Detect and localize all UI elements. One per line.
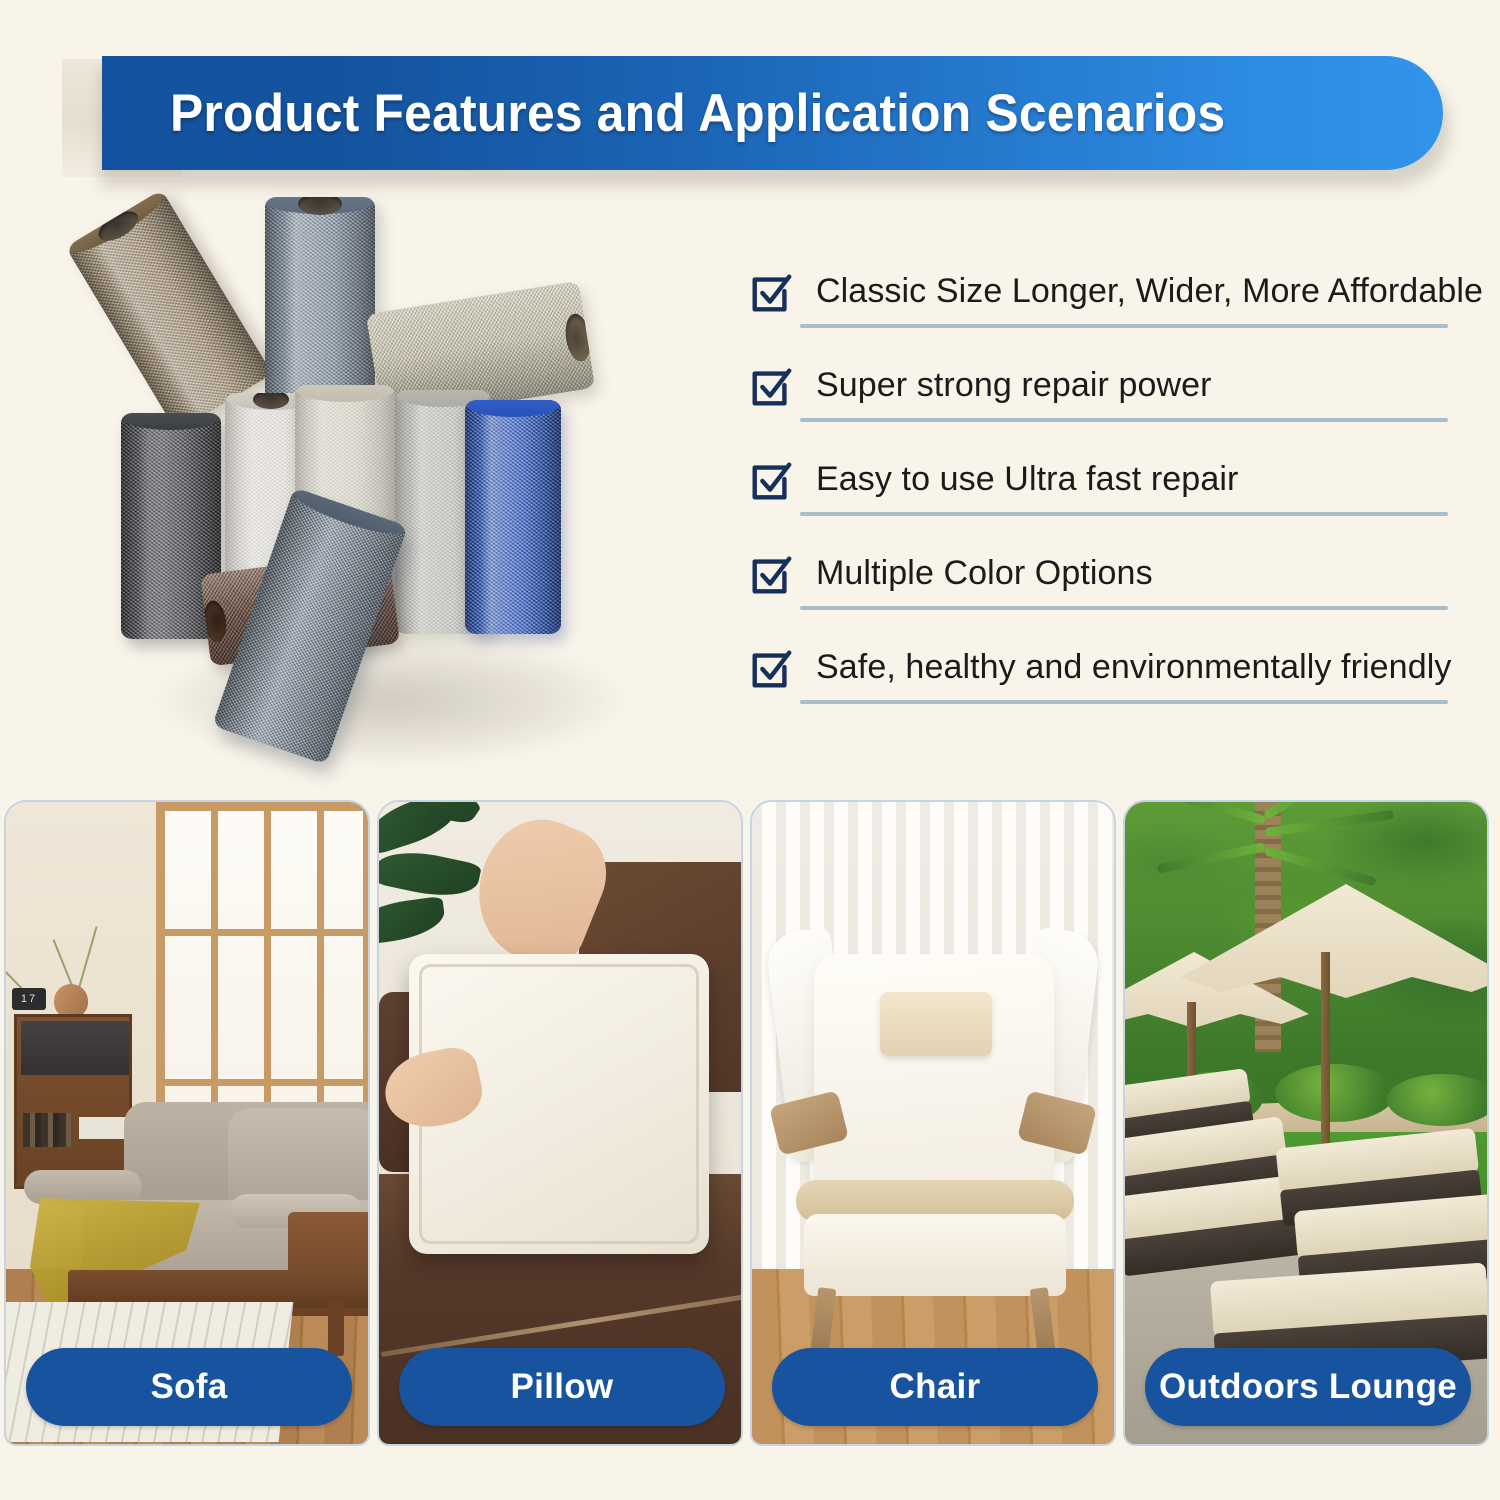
feature-label: Super strong repair power: [816, 356, 1212, 414]
checkbox-checked-icon: [748, 552, 794, 598]
scenario-label-chair[interactable]: Chair: [772, 1348, 1098, 1426]
scenario-label-text: Chair: [890, 1367, 981, 1407]
scenario-card-outdoors-lounge[interactable]: Outdoors Lounge: [1123, 800, 1489, 1446]
feature-divider: [800, 512, 1448, 516]
checkbox-checked-icon: [748, 364, 794, 410]
header-banner: Product Features and Application Scenari…: [0, 47, 1500, 177]
feature-divider: [800, 324, 1448, 328]
feature-label: Easy to use Ultra fast repair: [816, 450, 1238, 508]
checkbox-checked-icon: [748, 270, 794, 316]
scenario-label-text: Outdoors Lounge: [1159, 1367, 1457, 1407]
feature-divider: [800, 700, 1448, 704]
scenario-label-sofa[interactable]: Sofa: [26, 1348, 352, 1426]
product-image: [95, 185, 695, 770]
feature-label: Multiple Color Options: [816, 544, 1153, 602]
feature-item: Classic Size Longer, Wider, More Afforda…: [748, 262, 1448, 356]
feature-item: Multiple Color Options: [748, 544, 1448, 638]
checkbox-checked-icon: [748, 458, 794, 504]
scenario-label-outdoors-lounge[interactable]: Outdoors Lounge: [1145, 1348, 1471, 1426]
checkbox-checked-icon: [748, 646, 794, 692]
scenario-cards: 17 Sofa: [0, 800, 1500, 1500]
feature-label: Safe, healthy and environmentally friend…: [816, 638, 1451, 696]
scenario-card-pillow[interactable]: Pillow: [377, 800, 743, 1446]
feature-divider: [800, 418, 1448, 422]
feature-item: Easy to use Ultra fast repair: [748, 450, 1448, 544]
banner-bar: Product Features and Application Scenari…: [102, 56, 1443, 170]
scenario-label-text: Sofa: [150, 1367, 227, 1407]
feature-item: Super strong repair power: [748, 356, 1448, 450]
feature-label: Classic Size Longer, Wider, More Afforda…: [816, 262, 1483, 320]
scenario-card-chair[interactable]: Chair: [750, 800, 1116, 1446]
scenario-card-sofa[interactable]: 17 Sofa: [4, 800, 370, 1446]
scenario-label-pillow[interactable]: Pillow: [399, 1348, 725, 1426]
page-title: Product Features and Application Scenari…: [170, 83, 1225, 144]
feature-divider: [800, 606, 1448, 610]
feature-item: Safe, healthy and environmentally friend…: [748, 638, 1448, 732]
scenario-label-text: Pillow: [511, 1367, 614, 1407]
royal-blue-roll: [465, 400, 561, 634]
infographic-page: Product Features and Application Scenari…: [0, 0, 1500, 1500]
feature-list: Classic Size Longer, Wider, More Afforda…: [748, 262, 1448, 732]
